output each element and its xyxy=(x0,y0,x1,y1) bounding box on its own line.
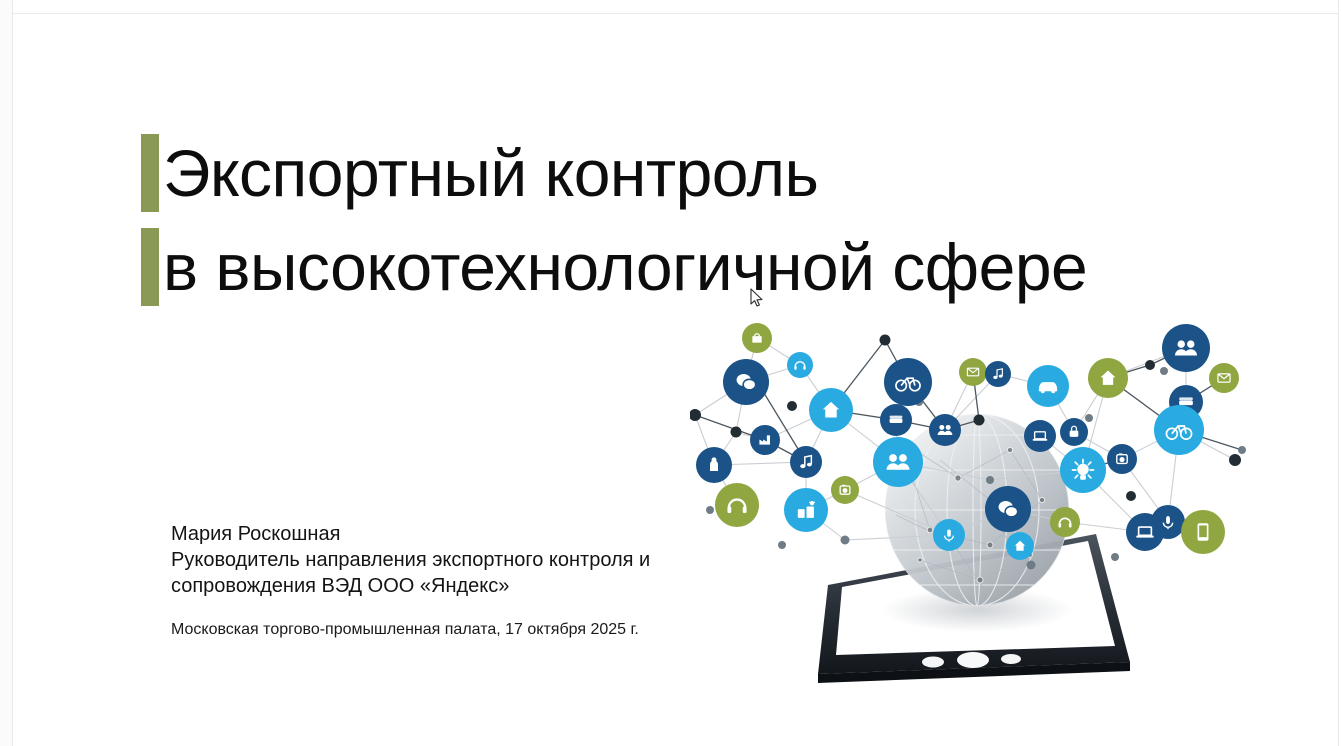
network-node-headphones-5 xyxy=(715,483,759,527)
network-node-envelope-13 xyxy=(959,358,987,386)
network-node-home-19 xyxy=(1088,358,1128,398)
node-disc xyxy=(750,425,780,455)
node-disc xyxy=(1024,420,1056,452)
network-node-home-31 xyxy=(1006,532,1034,560)
network-node-music-8 xyxy=(790,446,822,478)
network-node-lock-17 xyxy=(1060,418,1088,446)
network-node-music-16 xyxy=(985,361,1011,387)
node-disc xyxy=(784,488,828,532)
network-node-bicycle-11 xyxy=(884,358,932,406)
author-name: Мария Роскошная xyxy=(171,521,771,547)
network-node-mic-32 xyxy=(933,519,965,551)
author-block: Мария Роскошная Руководитель направления… xyxy=(171,521,771,599)
node-disc xyxy=(873,437,923,487)
page-edge-left xyxy=(12,0,13,746)
network-node-camera-18 xyxy=(1107,444,1137,474)
network-node-home-7 xyxy=(809,388,853,432)
network-node-bag-0 xyxy=(742,323,772,353)
node-disc xyxy=(715,483,759,527)
slide-title: Экспортный контроль в высокотехнологично… xyxy=(141,134,1161,312)
network-node-envelope-22 xyxy=(1209,363,1239,393)
network-node-shop-6 xyxy=(784,488,828,532)
title-line-1: Экспортный контроль xyxy=(141,134,1161,218)
iot-network-illustration xyxy=(690,310,1260,690)
title-text-line-1: Экспортный контроль xyxy=(163,134,818,212)
network-node-people-14 xyxy=(929,414,961,446)
node-disc xyxy=(1126,513,1164,551)
node-disc xyxy=(790,446,822,478)
node-disc xyxy=(929,414,961,446)
node-disc xyxy=(787,352,813,378)
network-node-laptop-25 xyxy=(1024,420,1056,452)
title-text-line-2: в высокотехнологичной сфере xyxy=(163,228,1087,306)
tablet-button-home xyxy=(957,652,989,668)
node-disc xyxy=(985,361,1011,387)
network-node-people-10 xyxy=(873,437,923,487)
accent-bar-2 xyxy=(141,228,159,306)
network-node-headphones-1 xyxy=(787,352,813,378)
network-node-camera-9 xyxy=(831,476,859,504)
network-node-headphones-30 xyxy=(1050,507,1080,537)
venue-and-date: Московская торгово-промышленная палата, … xyxy=(171,620,639,640)
presentation-slide: Экспортный контроль в высокотехнологично… xyxy=(0,0,1342,746)
bulb-icon xyxy=(1073,460,1094,480)
network-node-chat-2 xyxy=(723,359,769,405)
network-node-laptop-27 xyxy=(1126,513,1164,551)
network-node-bulb-24 xyxy=(1060,447,1106,493)
network-node-sofa-12 xyxy=(880,404,912,436)
network-node-factory-3 xyxy=(750,425,780,455)
page-edge-right xyxy=(1338,0,1339,746)
sofa-icon xyxy=(890,416,903,423)
network-node-car-15 xyxy=(1027,365,1069,407)
network-node-people-20 xyxy=(1162,324,1210,372)
author-role-line-2: сопровождения ВЭД ООО «Яндекс» xyxy=(171,573,771,599)
accent-bar-1 xyxy=(141,134,159,212)
node-disc xyxy=(1162,324,1210,372)
network-node-smartphone-28 xyxy=(1181,510,1225,554)
sofa-icon xyxy=(1179,397,1193,405)
node-disc xyxy=(1050,507,1080,537)
title-line-2: в высокотехнологичной сфере xyxy=(141,228,1161,312)
tablet-button-right xyxy=(1001,654,1021,664)
page-edge-top xyxy=(12,13,1338,14)
network-node-bicycle-23 xyxy=(1154,405,1204,455)
author-role-line-1: Руководитель направления экспортного кон… xyxy=(171,547,771,573)
tablet-button-left xyxy=(922,657,944,668)
smartphone-icon xyxy=(1198,523,1209,540)
page-gutter xyxy=(0,0,12,746)
network-node-chat-29 xyxy=(985,486,1031,532)
network-node-hand-4 xyxy=(696,447,732,483)
